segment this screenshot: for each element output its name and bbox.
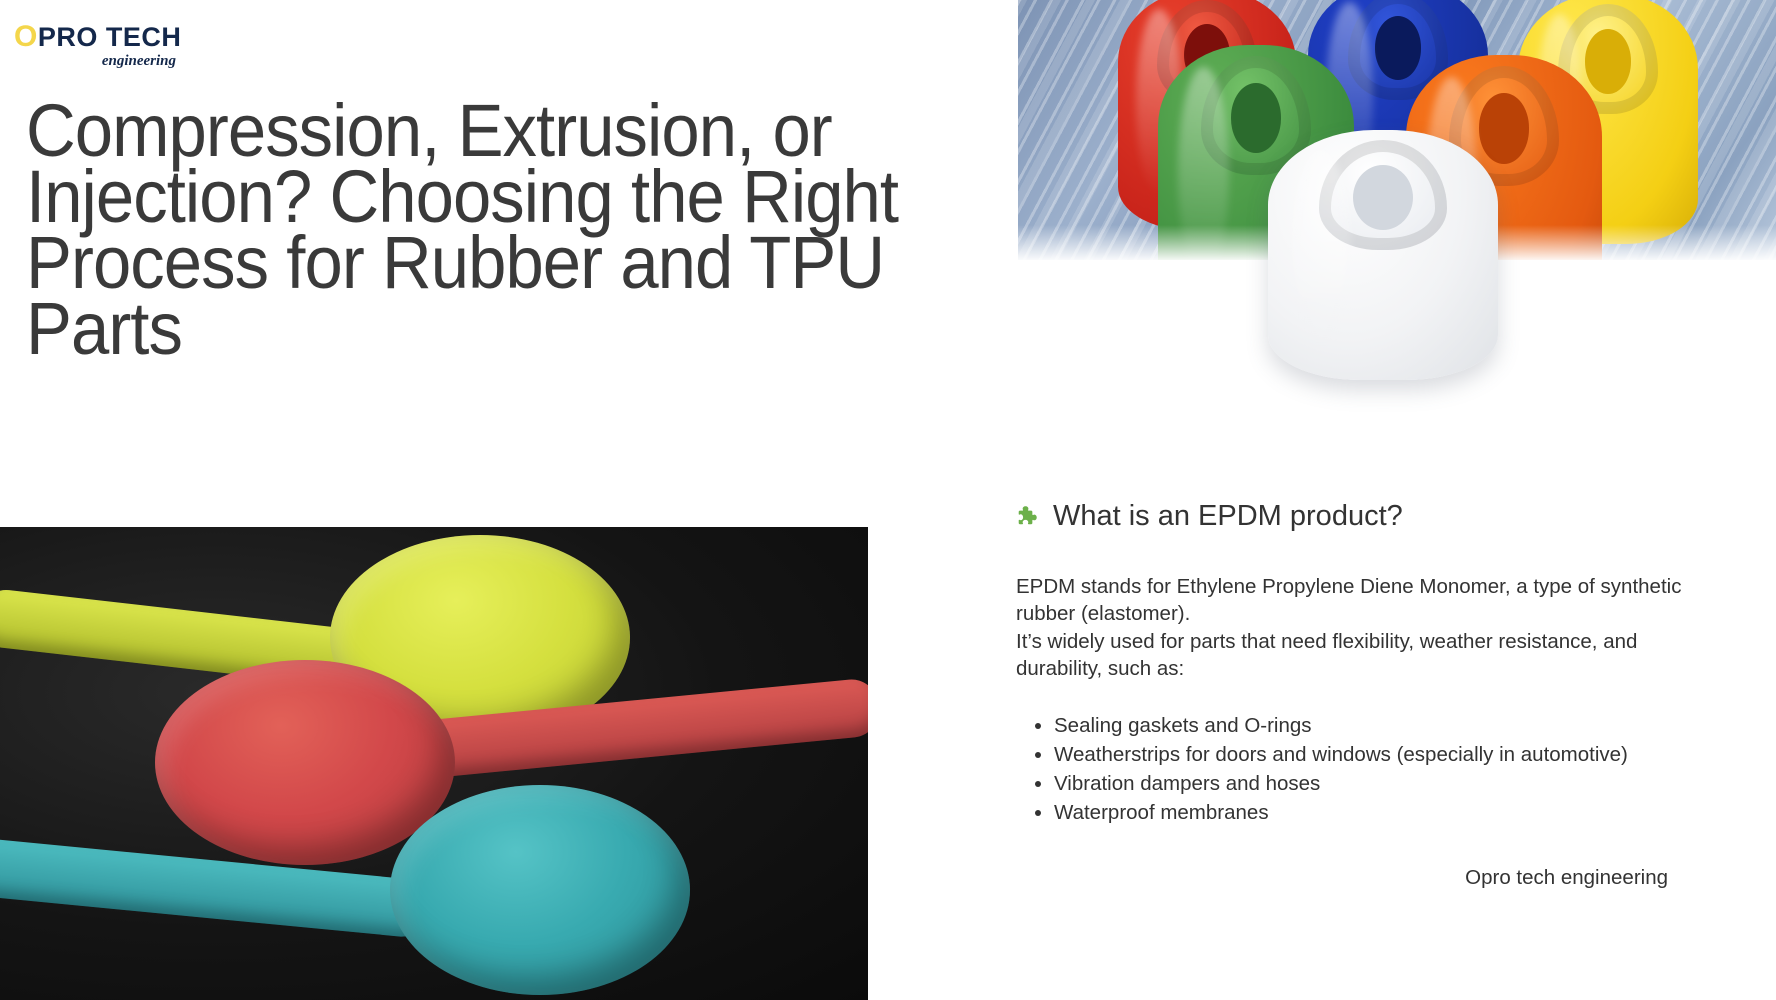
colored-rubber-rolls-photo bbox=[1018, 0, 1776, 260]
epdm-content-block: What is an EPDM product? EPDM stands for… bbox=[1016, 500, 1716, 827]
logo-main-text: PRO TECH bbox=[38, 24, 182, 51]
rubber-roll-white bbox=[1268, 130, 1498, 380]
logo-o-letter: O bbox=[14, 22, 38, 52]
logo-subtitle: engineering bbox=[14, 53, 184, 70]
footer-credit: Opro tech engineering bbox=[1016, 866, 1716, 890]
epdm-paragraph: EPDM stands for Ethylene Propylene Diene… bbox=[1016, 573, 1716, 683]
list-item: Vibration dampers and hoses bbox=[1054, 769, 1716, 798]
silicone-spoons-photo bbox=[0, 527, 868, 1000]
epdm-use-list: Sealing gaskets and O-rings Weatherstrip… bbox=[1016, 711, 1716, 827]
page-title: Compression, Extrusion, or Injection? Ch… bbox=[26, 98, 919, 361]
list-item: Waterproof membranes bbox=[1054, 798, 1716, 827]
section-heading-text: What is an EPDM product? bbox=[1053, 500, 1403, 533]
section-heading: What is an EPDM product? bbox=[1016, 500, 1716, 533]
brand-logo: O PRO TECH engineering bbox=[14, 22, 184, 78]
list-item: Sealing gaskets and O-rings bbox=[1054, 711, 1716, 740]
puzzle-piece-icon bbox=[1016, 504, 1041, 529]
list-item: Weatherstrips for doors and windows (esp… bbox=[1054, 740, 1716, 769]
logo-wordmark: O PRO TECH bbox=[14, 22, 184, 52]
